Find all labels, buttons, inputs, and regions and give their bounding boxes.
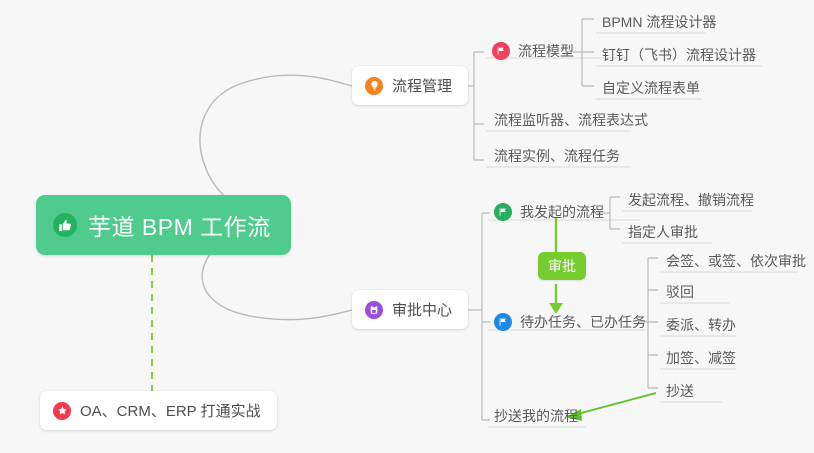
star-icon <box>53 402 71 420</box>
leaf-label-cc-to-me: 抄送我的流程 <box>494 408 578 424</box>
leaf-start-cancel-process[interactable]: 发起流程、撤销流程 <box>622 189 760 213</box>
branch-process-management[interactable]: 流程管理 <box>352 66 468 105</box>
note-node[interactable]: OA、CRM、ERP 打通实战 <box>40 391 277 430</box>
leaf-cc-to-me[interactable]: 抄送我的流程 <box>488 405 584 429</box>
leaf-cc[interactable]: 抄送 <box>660 380 700 404</box>
edge-mys-branch-stubs <box>610 197 620 229</box>
approval-pill-label: 审批 <box>548 258 576 274</box>
branch-head-label-my-started: 我发起的流程 <box>520 203 604 221</box>
thumbs-up-icon <box>53 213 77 237</box>
leaf-label-process-listener: 流程监听器、流程表达式 <box>494 112 648 128</box>
leaf-label-dingtalk-designer: 钉钉（飞书）流程设计器 <box>602 47 756 63</box>
clipboard-icon <box>365 301 383 319</box>
branch-head-process-model[interactable]: 流程模型 <box>488 40 580 64</box>
leaf-label-bpmn-designer: BPMN 流程设计器 <box>602 14 716 30</box>
leaf-label-start-cancel-process: 发起流程、撤销流程 <box>628 192 754 208</box>
leaf-assign-approver[interactable]: 指定人审批 <box>622 221 704 245</box>
approval-pill[interactable]: 审批 <box>538 252 586 280</box>
leaf-label-reject: 驳回 <box>666 284 694 300</box>
leaf-label-delegate-transfer: 委派、转办 <box>666 317 736 333</box>
edge-ac-branch-stubs <box>482 213 490 420</box>
lightbulb-icon <box>365 77 383 95</box>
leaf-label-custom-form: 自定义流程表单 <box>602 80 700 96</box>
leaf-dingtalk-designer[interactable]: 钉钉（飞书）流程设计器 <box>596 44 762 68</box>
branch-head-label-process-model: 流程模型 <box>518 42 574 60</box>
leaf-process-listener[interactable]: 流程监听器、流程表达式 <box>488 109 654 133</box>
flag-red-icon <box>492 42 510 60</box>
leaf-label-process-instance: 流程实例、流程任务 <box>494 148 620 164</box>
flag-blue-icon <box>494 313 512 331</box>
leaf-reject[interactable]: 驳回 <box>660 281 700 305</box>
flag-green-icon <box>494 203 512 221</box>
leaf-delegate-transfer[interactable]: 委派、转办 <box>660 314 742 338</box>
branch-head-todo-done[interactable]: 待办任务、已办任务 <box>490 311 652 335</box>
note-label: OA、CRM、ERP 打通实战 <box>80 400 261 421</box>
root-node[interactable]: 芋道 BPM 工作流 <box>36 195 291 255</box>
leaf-label-add-remove-sign: 加签、减签 <box>666 350 736 366</box>
leaf-label-countersign: 会签、或签、依次审批 <box>666 253 806 269</box>
leaf-label-assign-approver: 指定人审批 <box>628 224 698 240</box>
branch-approval-center[interactable]: 审批中心 <box>352 290 468 329</box>
branch-label-process-management: 流程管理 <box>392 75 452 96</box>
leaf-process-instance[interactable]: 流程实例、流程任务 <box>488 145 626 169</box>
leaf-custom-form[interactable]: 自定义流程表单 <box>596 77 706 101</box>
root-label: 芋道 BPM 工作流 <box>88 208 271 242</box>
leaf-countersign[interactable]: 会签、或签、依次审批 <box>660 250 812 274</box>
edge-pmodel-branch-stubs <box>582 19 594 86</box>
branch-head-label-todo-done: 待办任务、已办任务 <box>520 313 646 331</box>
branch-label-approval-center: 审批中心 <box>392 299 452 320</box>
edge-pm-branch-stubs <box>474 52 484 160</box>
leaf-add-remove-sign[interactable]: 加签、减签 <box>660 347 742 371</box>
branch-head-my-started[interactable]: 我发起的流程 <box>490 201 610 225</box>
leaf-bpmn-designer[interactable]: BPMN 流程设计器 <box>596 11 722 35</box>
leaf-label-cc: 抄送 <box>666 383 694 399</box>
mindmap-canvas: 芋道 BPM 工作流 OA、CRM、ERP 打通实战 流程管理 <box>0 0 814 453</box>
